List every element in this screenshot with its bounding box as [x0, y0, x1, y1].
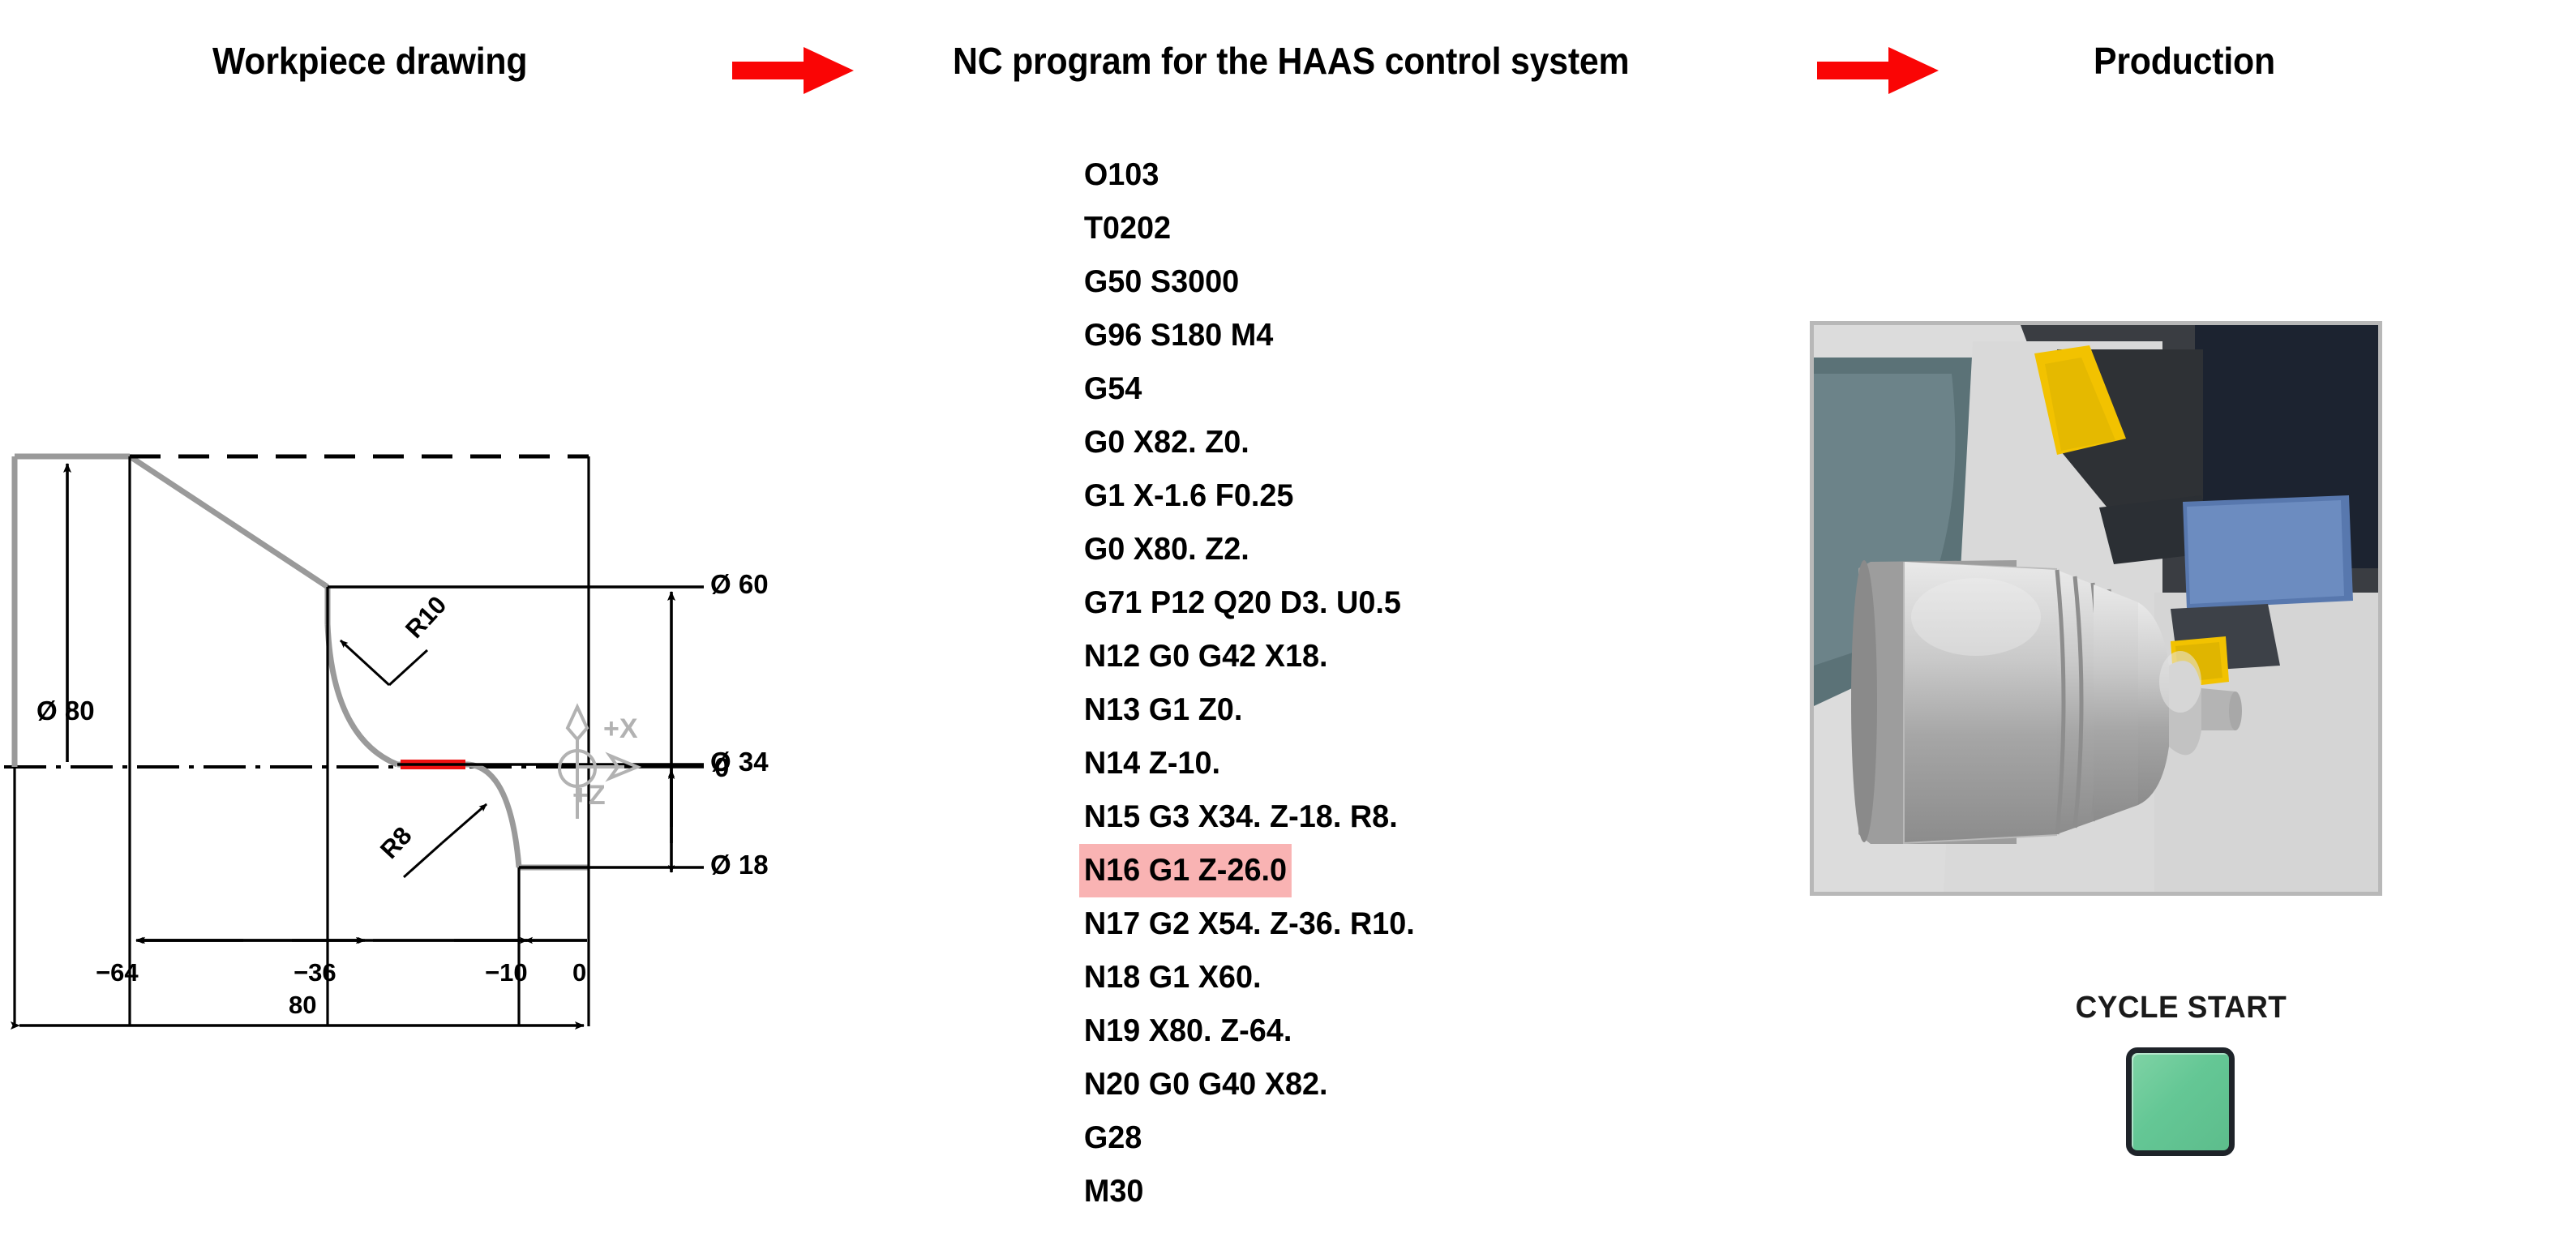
axis-label-x: +X: [603, 713, 638, 745]
nc-line[interactable]: N12 G0 G42 X18.: [1079, 630, 1332, 683]
nc-line[interactable]: G50 S3000: [1079, 255, 1244, 309]
nc-line[interactable]: G54: [1079, 362, 1147, 416]
nc-line[interactable]: G71 P12 Q20 D3. U0.5: [1079, 576, 1406, 630]
overall-length-label: 80: [289, 991, 316, 1020]
nc-line[interactable]: N20 G0 G40 X82.: [1079, 1058, 1332, 1111]
nc-line[interactable]: G0 X82. Z0.: [1079, 416, 1254, 469]
workpiece-drawing: Ø 60 Ø 34 Ø 18 0 Ø 80 R10 R8 +X +Z −64 −…: [0, 389, 778, 1046]
header-row: Workpiece drawing NC program for the HAA…: [0, 0, 2576, 105]
nc-line[interactable]: G1 X-1.6 F0.25: [1079, 469, 1298, 523]
diameter-label-60: Ø 60: [710, 569, 769, 600]
nc-line[interactable]: G28: [1079, 1111, 1147, 1165]
nc-line[interactable]: N18 G1 X60.: [1079, 951, 1266, 1004]
radius-label-r10: R10: [400, 590, 452, 644]
nc-program-listing[interactable]: O103T0202G50 S3000G96 S180 M4G54G0 X82. …: [1084, 148, 1587, 1218]
production-simulation-image: [1810, 321, 2382, 896]
nc-line[interactable]: M30: [1079, 1165, 1148, 1218]
nc-line-highlighted[interactable]: N16 G1 Z-26.0: [1079, 844, 1292, 897]
nc-line[interactable]: G0 X80. Z2.: [1079, 523, 1254, 576]
header-title-nc-program: NC program for the HAAS control system: [953, 39, 1629, 83]
radius-label-r8: R8: [375, 821, 418, 865]
z-dimension-label-0: 0: [572, 958, 586, 987]
nc-line[interactable]: G96 S180 M4: [1079, 309, 1278, 362]
right-arrow-icon: [732, 47, 854, 98]
z-dimension-label-36: −36: [294, 958, 336, 987]
header-title-workpiece: Workpiece drawing: [212, 39, 527, 83]
cycle-start-button[interactable]: [2126, 1047, 2235, 1156]
z-dimension-label-10: −10: [485, 958, 528, 987]
z-zero-label: 0: [714, 752, 729, 783]
nc-line[interactable]: N15 G3 X34. Z-18. R8.: [1079, 790, 1403, 844]
nc-line[interactable]: N17 G2 X54. Z-36. R10.: [1079, 897, 1420, 951]
nc-line[interactable]: N13 G1 Z0.: [1079, 683, 1247, 737]
cycle-start-control[interactable]: CYCLE START: [2011, 981, 2351, 1240]
diameter-label-18: Ø 18: [710, 850, 769, 880]
page-root: Workpiece drawing NC program for the HAA…: [0, 0, 2576, 1246]
nc-line[interactable]: N14 Z-10.: [1079, 737, 1225, 790]
nc-line[interactable]: O103: [1079, 148, 1164, 202]
nc-line[interactable]: N19 X80. Z-64.: [1079, 1004, 1297, 1058]
cycle-start-label: CYCLE START: [2016, 991, 2346, 1025]
z-dimension-label-64: −64: [96, 958, 139, 987]
right-arrow-icon: [1817, 47, 1939, 98]
nc-line[interactable]: T0202: [1079, 202, 1176, 255]
lathe-render: [1814, 325, 2378, 892]
drawing-labels: Ø 60 Ø 34 Ø 18 0 Ø 80 R10 R8 +X +Z −64 −…: [0, 389, 778, 1046]
header-title-production: Production: [2094, 39, 2275, 83]
stock-diameter-label: Ø 80: [36, 696, 95, 726]
axis-label-z: +Z: [572, 780, 606, 811]
